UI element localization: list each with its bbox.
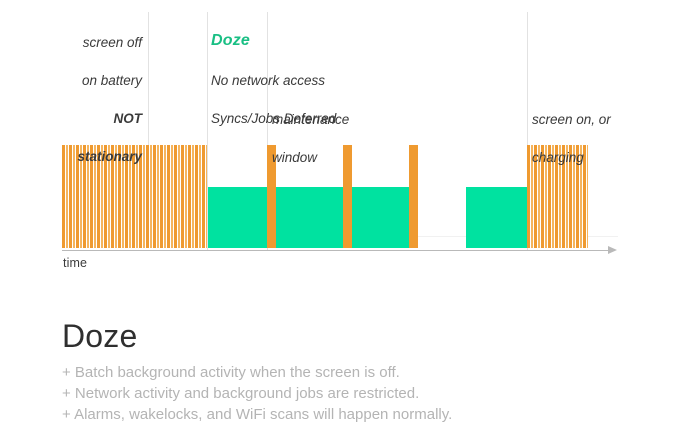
annotation-screen-off-line1: screen off <box>56 33 142 52</box>
annotation-doze-line1: No network access <box>211 71 391 90</box>
annotation-screen-off-line3: NOT <box>114 111 143 126</box>
list-item: + Alarms, wakelocks, and WiFi scans will… <box>62 404 452 425</box>
annotation-screen-on-line1: screen on, or <box>532 110 662 129</box>
annotation-screen-on-line2: charging <box>532 148 662 167</box>
annotation-maintenance-window: maintenance window <box>272 91 412 186</box>
feature-bullet-list: + Batch background activity when the scr… <box>62 362 452 425</box>
doze-block-2 <box>276 187 343 248</box>
doze-timeline-diagram: time screen off on battery NOT stationar… <box>0 0 680 290</box>
page-title: Doze <box>62 318 138 355</box>
time-axis-line <box>62 250 610 251</box>
doze-annotation-title: Doze <box>211 32 250 50</box>
annotation-screen-on-charging: screen on, or charging <box>532 91 662 186</box>
annotation-screen-off: screen off on battery NOT stationary <box>56 14 142 185</box>
list-item: + Batch background activity when the scr… <box>62 362 452 383</box>
doze-block-1 <box>208 187 267 248</box>
doze-block-3 <box>352 187 409 248</box>
annotation-maintenance-line1: maintenance <box>272 110 412 129</box>
annotation-screen-off-line2: on battery <box>56 71 142 90</box>
arrow-right-icon <box>608 246 617 254</box>
annotation-screen-off-line4: stationary <box>77 149 142 164</box>
doze-block-4 <box>466 187 527 248</box>
list-item: + Network activity and background jobs a… <box>62 383 452 404</box>
time-axis-label: time <box>63 256 87 270</box>
annotation-maintenance-line2: window <box>272 148 412 167</box>
